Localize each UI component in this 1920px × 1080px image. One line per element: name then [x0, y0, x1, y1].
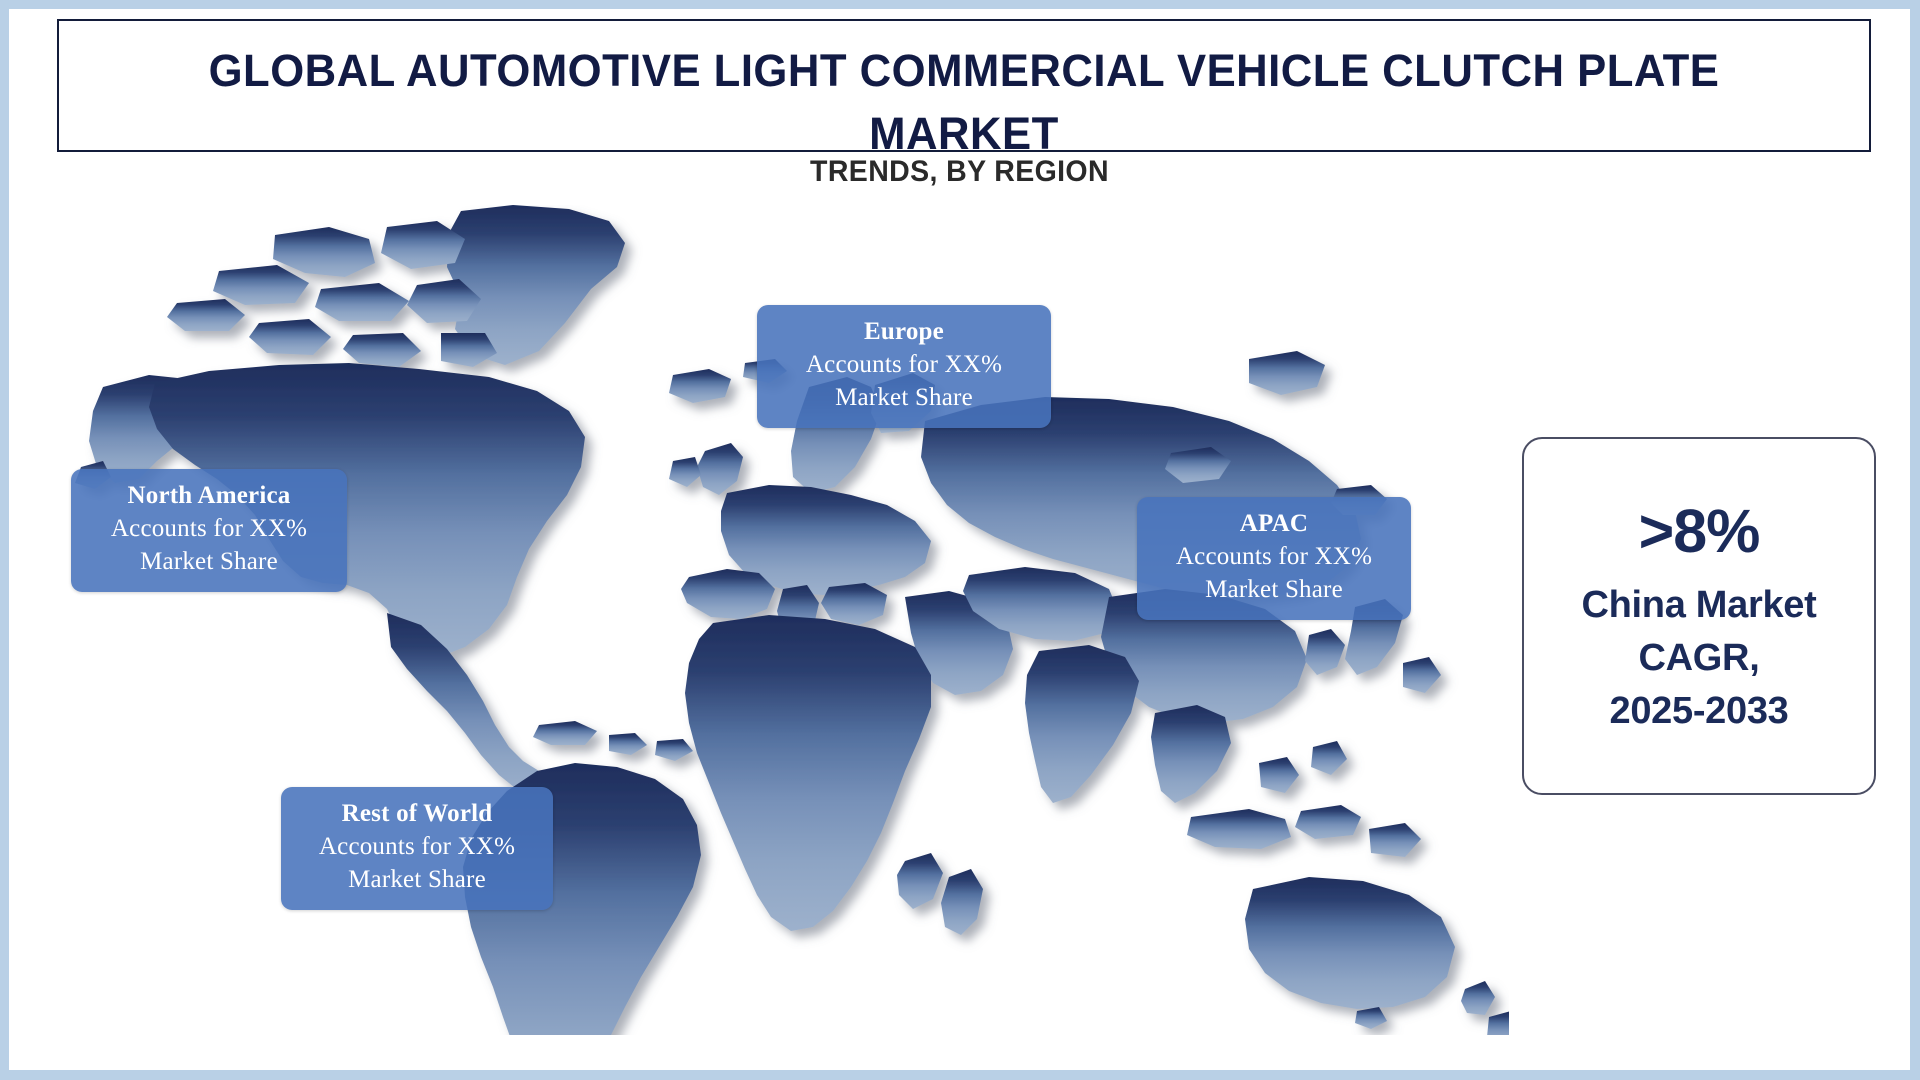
region-share-line1: Accounts for XX%	[1151, 540, 1397, 573]
region-share-line1: Accounts for XX%	[85, 512, 333, 545]
cagr-value: >8%	[1639, 495, 1760, 567]
infographic-page: GLOBAL AUTOMOTIVE LIGHT COMMERCIAL VEHIC…	[0, 0, 1920, 1080]
title-box: GLOBAL AUTOMOTIVE LIGHT COMMERCIAL VEHIC…	[57, 19, 1871, 152]
region-name: North America	[85, 479, 333, 512]
cagr-label-line2: CAGR,	[1639, 632, 1760, 685]
region-share-line2: Market Share	[295, 863, 539, 896]
region-name: Europe	[771, 315, 1037, 348]
region-share-line2: Market Share	[85, 545, 333, 578]
region-share-line1: Accounts for XX%	[771, 348, 1037, 381]
region-share-line2: Market Share	[771, 381, 1037, 414]
page-title: GLOBAL AUTOMOTIVE LIGHT COMMERCIAL VEHIC…	[159, 39, 1769, 165]
region-callout-rest-of-world[interactable]: Rest of World Accounts for XX% Market Sh…	[281, 787, 553, 910]
region-callout-apac[interactable]: APAC Accounts for XX% Market Share	[1137, 497, 1411, 620]
page-subtitle: TRENDS, BY REGION	[57, 155, 1863, 189]
region-name: APAC	[1151, 507, 1397, 540]
cagr-stat-box[interactable]: >8% China Market CAGR, 2025-2033	[1522, 437, 1876, 795]
cagr-label-line3: 2025-2033	[1609, 685, 1788, 738]
region-name: Rest of World	[295, 797, 539, 830]
cagr-label-line1: China Market	[1581, 579, 1816, 632]
region-callout-north-america[interactable]: North America Accounts for XX% Market Sh…	[71, 469, 347, 592]
region-share-line1: Accounts for XX%	[295, 830, 539, 863]
region-share-line2: Market Share	[1151, 573, 1397, 606]
region-callout-europe[interactable]: Europe Accounts for XX% Market Share	[757, 305, 1051, 428]
